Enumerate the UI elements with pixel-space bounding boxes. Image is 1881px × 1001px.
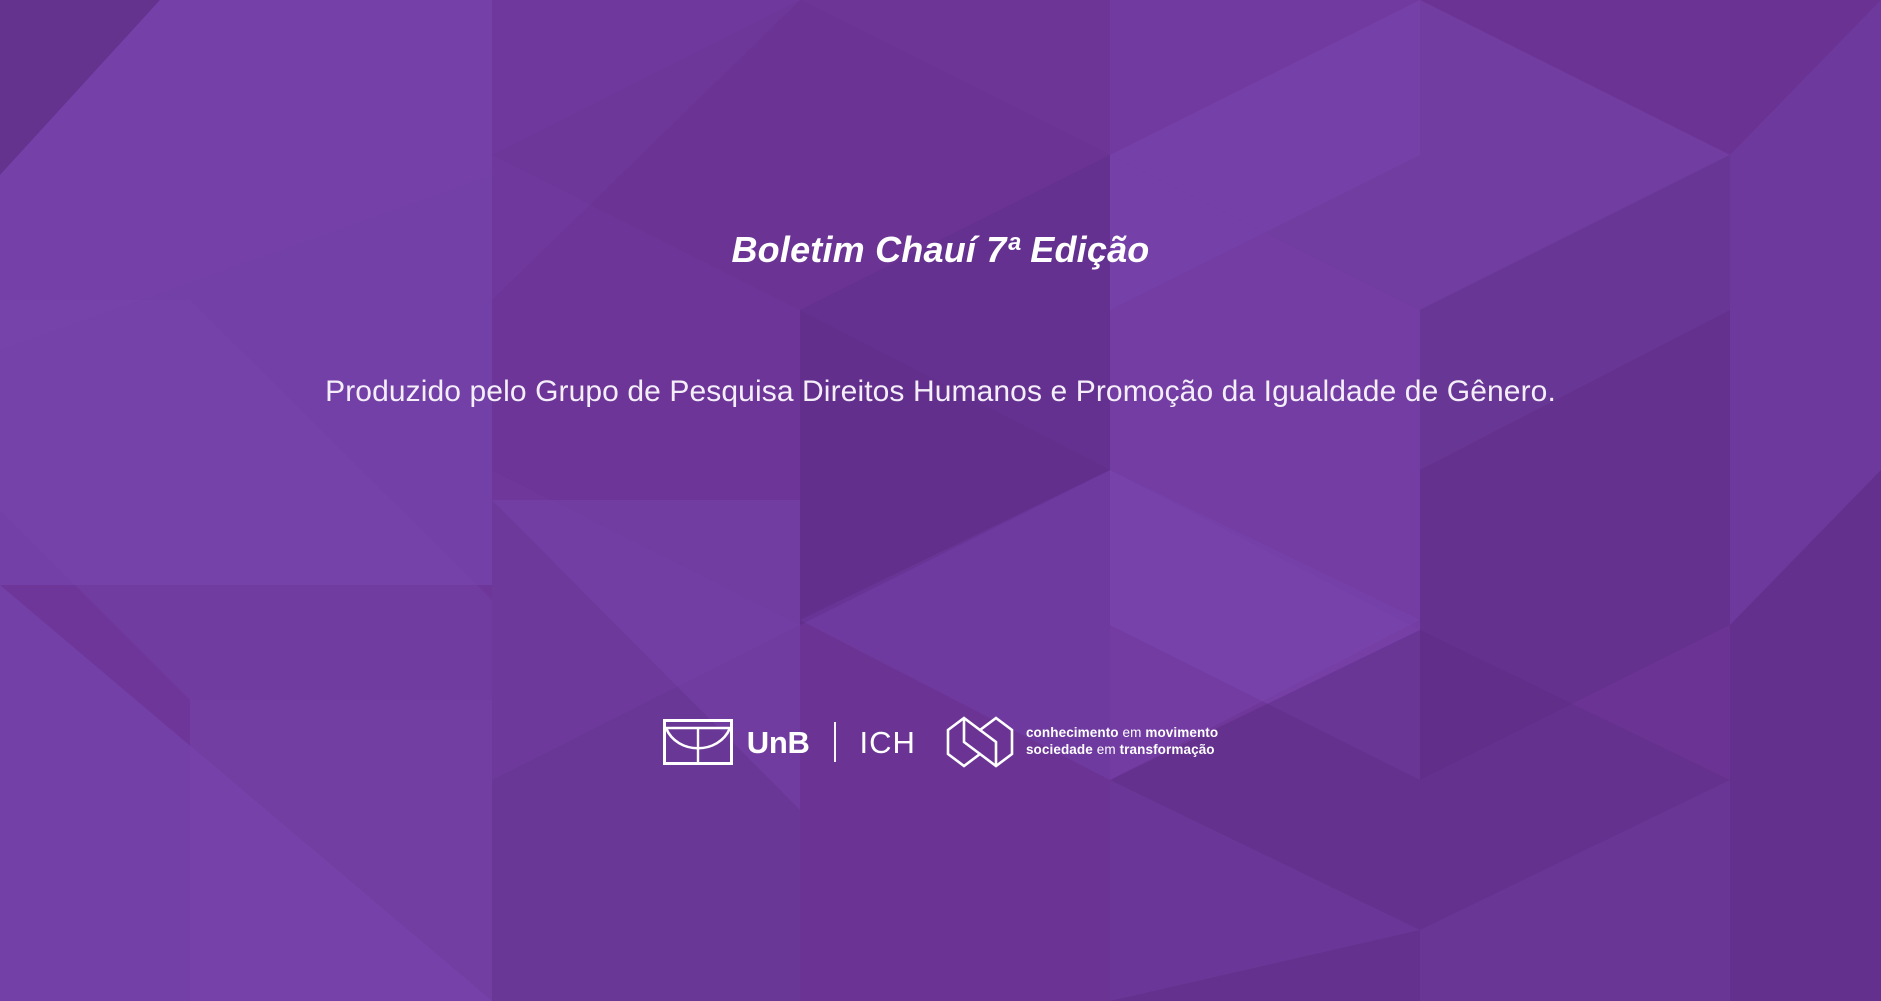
ich-slogan-line-1: conhecimento em movimento	[1026, 725, 1218, 742]
unb-oca-icon	[663, 719, 733, 765]
logo-divider	[834, 722, 836, 762]
unb-logo-lockup: UnB	[663, 719, 810, 765]
slide-content: Boletim Chauí 7ª Edição Produzido pelo G…	[0, 0, 1881, 1001]
slide-canvas: Boletim Chauí 7ª Edição Produzido pelo G…	[0, 0, 1881, 1001]
slogan-word-em-2: em	[1097, 742, 1116, 757]
slogan-word-em-1: em	[1123, 725, 1142, 740]
ich-ribbon-infinity-icon	[946, 716, 1014, 768]
ich-logo-lockup: conhecimento em movimento sociedade em t…	[946, 716, 1218, 768]
slogan-word-transformacao: transformação	[1120, 742, 1215, 757]
slogan-word-sociedade: sociedade	[1026, 742, 1093, 757]
page-title: Boletim Chauí 7ª Edição	[0, 228, 1881, 271]
page-subtitle: Produzido pelo Grupo de Pesquisa Direito…	[0, 373, 1881, 411]
logo-bar: UnB ICH conhecimento em movi	[0, 716, 1881, 768]
slogan-word-movimento: movimento	[1145, 725, 1218, 740]
unb-wordmark: UnB	[747, 727, 810, 758]
ich-wordmark: ICH	[860, 727, 916, 758]
slogan-word-conhecimento: conhecimento	[1026, 725, 1119, 740]
ich-slogan: conhecimento em movimento sociedade em t…	[1026, 725, 1218, 759]
ich-slogan-line-2: sociedade em transformação	[1026, 742, 1218, 759]
